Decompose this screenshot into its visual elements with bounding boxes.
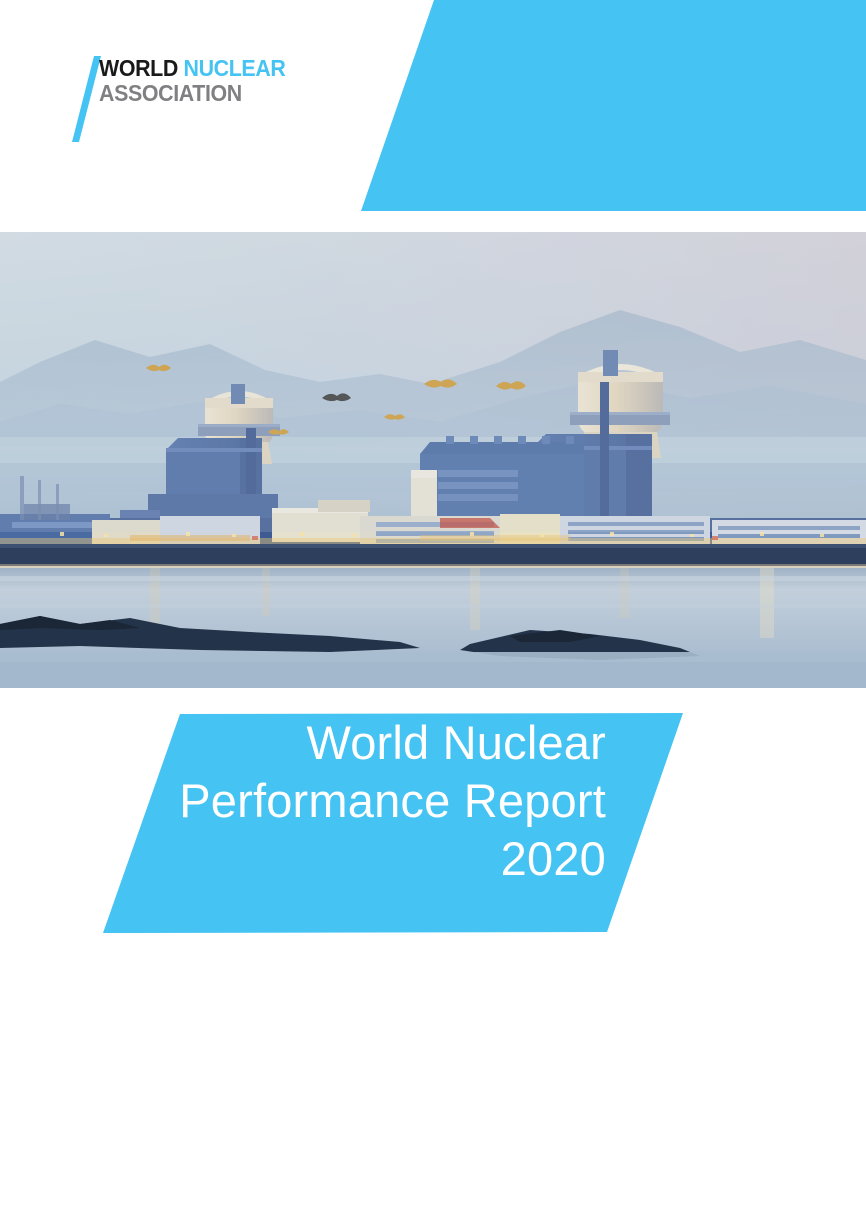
logo-word-association: ASSOCIATION (99, 81, 285, 105)
brand-logo[interactable]: WORLD NUCLEAR ASSOCIATION (68, 56, 368, 142)
logo-wordmark: WORLD NUCLEAR ASSOCIATION (99, 56, 300, 105)
logo-word-world: WORLD (99, 55, 178, 81)
cover-title-line-1: World Nuclear (0, 714, 606, 772)
cover-photo (0, 232, 866, 688)
logo-word-nuclear: NUCLEAR (184, 55, 286, 81)
cover-title-line-3: 2020 (0, 830, 606, 888)
cover-title-line-2: Performance Report (0, 772, 606, 830)
report-cover-page: WORLD NUCLEAR ASSOCIATION (0, 0, 866, 1225)
logo-line-one: WORLD NUCLEAR (99, 56, 285, 80)
cover-title: World Nuclear Performance Report 2020 (0, 714, 606, 888)
